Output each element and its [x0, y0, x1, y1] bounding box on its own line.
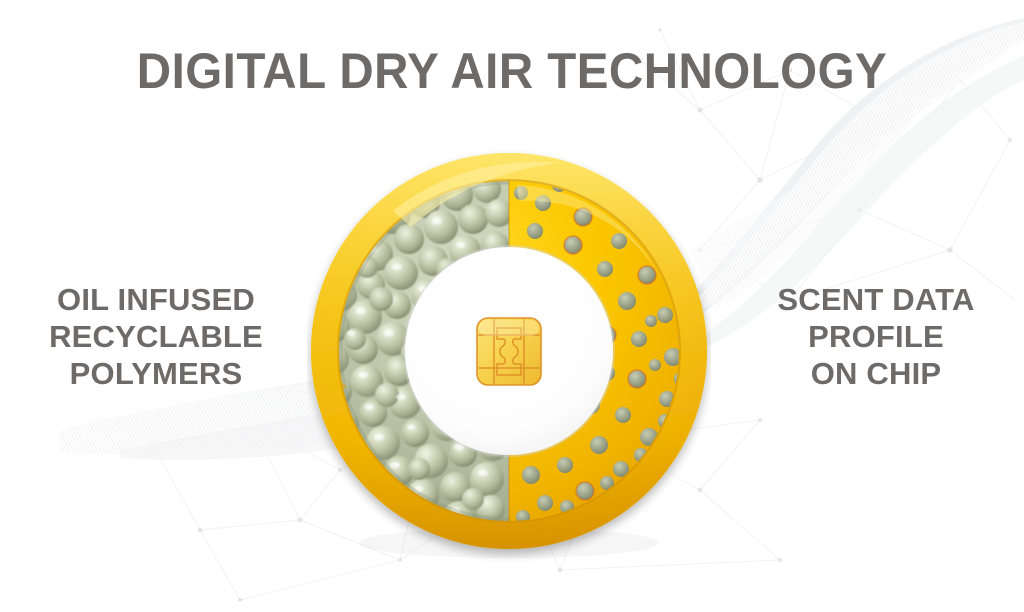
label-right-line-2: PROFILE	[742, 318, 1010, 355]
label-left-line-3: POLYMERS	[18, 355, 294, 392]
label-scent-data-profile-on-chip: SCENT DATA PROFILE ON CHIP	[742, 281, 1010, 392]
label-left-line-1: OIL INFUSED	[18, 281, 294, 318]
infographic-canvas: DIGITAL DRY AIR TECHNOLOGY OIL INFUSED R…	[0, 0, 1024, 612]
label-right-line-3: ON CHIP	[742, 355, 1010, 392]
dry-air-cartridge-disc	[307, 139, 711, 563]
label-right-line-1: SCENT DATA	[742, 281, 1010, 318]
page-title: DIGITAL DRY AIR TECHNOLOGY	[26, 42, 999, 100]
scent-data-chip	[477, 318, 541, 385]
label-left-line-2: RECYCLABLE	[18, 318, 294, 355]
label-oil-infused-recyclable-polymers: OIL INFUSED RECYCLABLE POLYMERS	[18, 281, 294, 392]
